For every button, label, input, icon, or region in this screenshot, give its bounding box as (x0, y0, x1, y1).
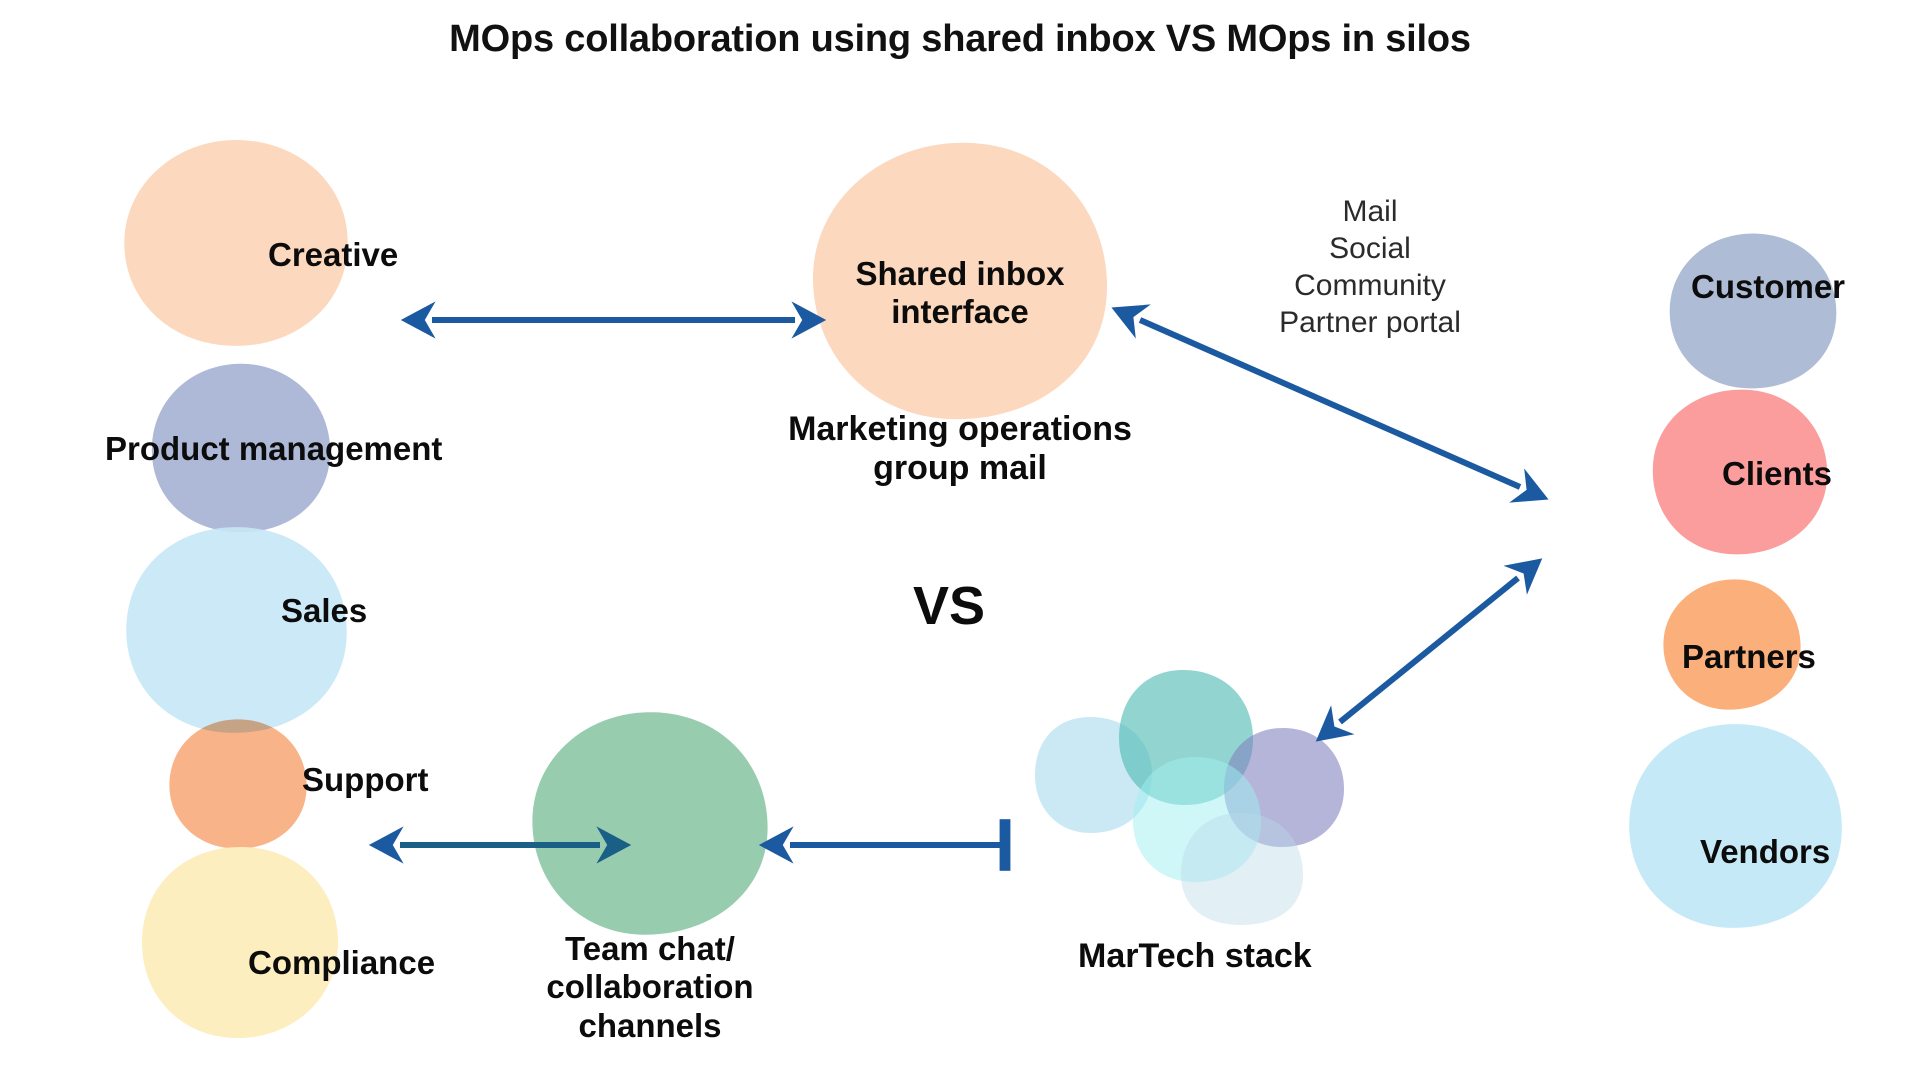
blob-vendors-shape (1629, 724, 1842, 928)
blob-team-chat (530, 710, 770, 937)
page-title: MOps collaboration using shared inbox VS… (0, 18, 1920, 61)
label-martech-stack: MarTech stack (1078, 937, 1312, 976)
blob-compliance (140, 845, 340, 1040)
label-shared-inbox-line1: Shared inbox (855, 255, 1064, 292)
channel-item-social: Social (1200, 231, 1540, 268)
label-group-mail: Marketing operations group mail (700, 410, 1220, 489)
blob-vendors (1627, 722, 1844, 930)
versus-label: VS (913, 575, 985, 637)
blob-compliance-shape (142, 847, 338, 1038)
label-clients: Clients (1722, 455, 1832, 493)
label-customer: Customer (1691, 268, 1845, 306)
label-product-management: Product management (105, 430, 442, 468)
label-group-mail-line1: Marketing operations (788, 410, 1132, 448)
label-shared-inbox: Shared inbox interface (800, 255, 1120, 332)
channel-list: Mail Social Community Partner portal (1200, 194, 1540, 342)
blob-team-chat-shape (532, 712, 767, 935)
channel-item-mail: Mail (1200, 194, 1540, 231)
label-team-chat-line2: collaboration (546, 968, 753, 1005)
label-team-chat-line3: channels (578, 1007, 721, 1044)
blob-customer (1668, 232, 1838, 390)
label-group-mail-line2: group mail (873, 449, 1047, 487)
label-sales: Sales (281, 592, 367, 630)
label-team-chat: Team chat/ collaboration channels (500, 930, 800, 1045)
label-partners: Partners (1682, 638, 1816, 676)
channel-item-partner-portal: Partner portal (1200, 305, 1540, 342)
label-shared-inbox-line2: interface (891, 293, 1029, 330)
channel-item-community: Community (1200, 268, 1540, 305)
blob-customer-shape (1670, 234, 1837, 389)
label-support: Support (302, 761, 428, 799)
label-team-chat-line1: Team chat/ (565, 930, 735, 967)
martech-stack-cluster (1035, 665, 1345, 925)
blob-support-shape (169, 719, 306, 848)
label-creative: Creative (268, 236, 398, 274)
diagram-canvas: MOps collaboration using shared inbox VS… (0, 0, 1920, 1080)
label-compliance: Compliance (248, 944, 435, 982)
blob-support (168, 718, 308, 850)
arrow-martech-to-audiences (1340, 578, 1518, 722)
label-vendors: Vendors (1700, 833, 1830, 871)
martech-blob-bottom (1181, 813, 1303, 925)
